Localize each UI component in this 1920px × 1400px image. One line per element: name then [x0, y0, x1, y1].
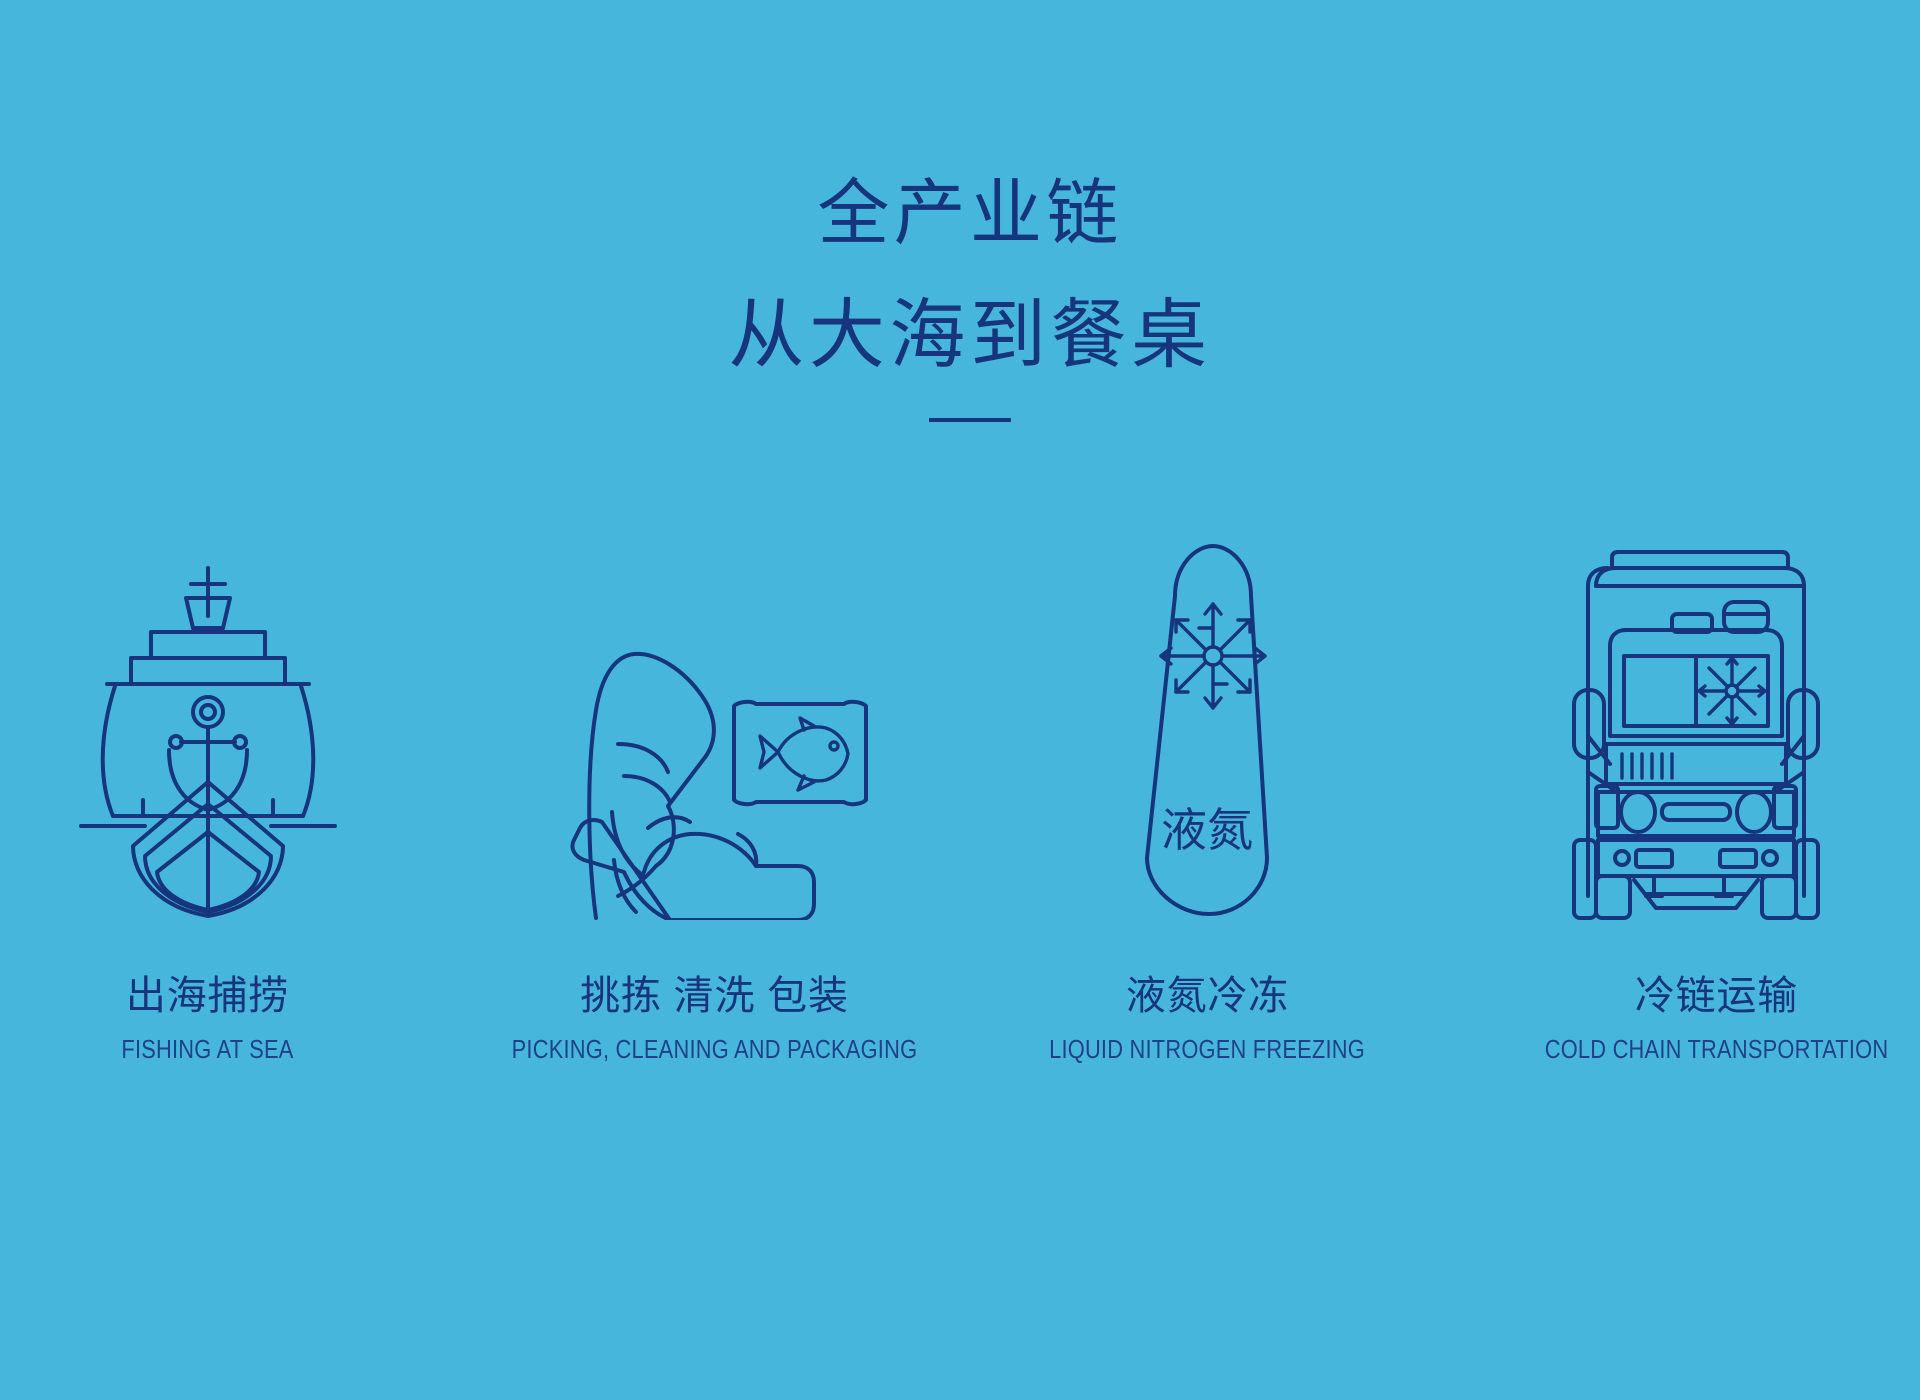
liquid-nitrogen-tank-icon: 液氮: [968, 520, 1447, 920]
page-title-line-1: 全产业链: [20, 178, 1920, 250]
step-label-en: LIQUID NITROGEN FREEZING: [1050, 1036, 1366, 1062]
snowflake-icon: [1699, 658, 1765, 724]
step-label-cn: 冷链运输: [1635, 976, 1798, 1016]
process-steps: 出海捕捞 FISHING AT SEA: [0, 520, 1920, 1140]
step-label-cn: 液氮冷冻: [1126, 976, 1289, 1016]
step-picking-cleaning-packaging: 挑拣 清洗 包装 PICKING, CLEANING AND PACKAGING: [479, 520, 962, 1140]
hands-with-fish-package-icon: [471, 520, 954, 920]
title-divider: [929, 418, 1011, 422]
header: 全产业链 从大海到餐桌: [0, 178, 1920, 422]
snowflake-icon: [1161, 604, 1265, 708]
step-cold-chain-transportation: 冷链运输 COLD CHAIN TRANSPORTATION: [1441, 520, 1920, 1140]
step-label-en: COLD CHAIN TRANSPORTATION: [1545, 1036, 1889, 1062]
fishing-boat-icon: [0, 520, 447, 920]
infographic-canvas: 全产业链 从大海到餐桌: [0, 0, 1920, 1400]
tank-label: 液氮: [1161, 804, 1253, 856]
step-liquid-nitrogen-freezing: 液氮 液氮冷冻 LIQUID NITROGEN FREEZING: [962, 520, 1441, 1140]
step-label-cn: 出海捕捞: [126, 976, 289, 1016]
step-fishing-at-sea: 出海捕捞 FISHING AT SEA: [0, 520, 479, 1140]
step-label-en: PICKING, CLEANING AND PACKAGING: [512, 1036, 918, 1062]
step-label-cn: 挑拣 清洗 包装: [580, 976, 849, 1016]
page-title-line-2: 从大海到餐桌: [20, 298, 1920, 374]
step-label-en: FISHING AT SEA: [121, 1036, 293, 1062]
refrigerated-truck-icon: [1477, 520, 1920, 920]
